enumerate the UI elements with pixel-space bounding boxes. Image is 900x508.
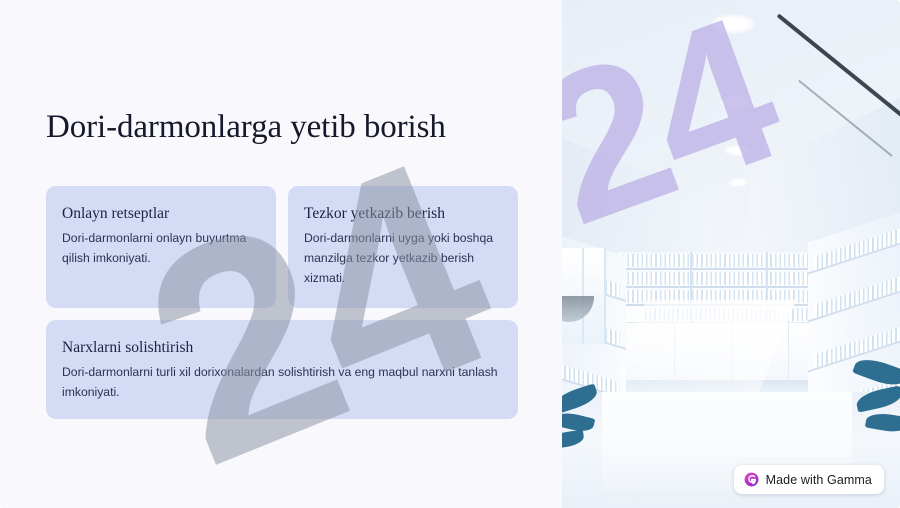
feature-cards: Onlayn retseptlar Dori-darmonlarni onlay…: [46, 186, 518, 419]
gamma-logo-icon: [744, 472, 759, 487]
leaf: [562, 383, 600, 414]
page-title: Dori-darmonlarga yetib borish: [46, 106, 516, 148]
pharmacy-interior-photo: 24: [562, 0, 900, 508]
card-price-comparison[interactable]: Narxlarni solishtirish Dori-darmonlarni …: [46, 320, 518, 419]
ceiling-light: [724, 145, 750, 156]
ceiling-light: [720, 95, 754, 109]
card-title: Onlayn retseptlar: [62, 204, 260, 223]
leaf: [855, 385, 900, 412]
made-with-gamma-badge[interactable]: Made with Gamma: [734, 465, 884, 494]
counter-seam: [788, 323, 789, 385]
slide-root: Dori-darmonlarga yetib borish Onlayn ret…: [0, 0, 900, 508]
card-title: Tezkor yetkazib berish: [304, 204, 502, 223]
leaf: [865, 410, 900, 434]
card-row-top: Onlayn retseptlar Dori-darmonlarni onlay…: [46, 186, 518, 308]
ceiling-light: [710, 14, 756, 34]
card-body: Dori-darmonlarni turli xil dorixonalarda…: [62, 363, 502, 403]
product-row: [814, 267, 900, 318]
card-online-prescriptions[interactable]: Onlayn retseptlar Dori-darmonlarni onlay…: [46, 186, 276, 308]
plant-right: [836, 356, 900, 452]
card-body: Dori-darmonlarni uyga yoki boshqa manzil…: [304, 229, 502, 288]
card-title: Narxlarni solishtirish: [62, 338, 502, 357]
plant-left: [562, 380, 612, 460]
card-body: Dori-darmonlarni onlayn buyurtma qilish …: [62, 229, 260, 269]
leaf: [852, 354, 900, 391]
content-panel: Dori-darmonlarga yetib borish Onlayn ret…: [0, 0, 562, 508]
made-with-gamma-label: Made with Gamma: [766, 473, 872, 487]
leaf: [562, 430, 585, 450]
card-fast-delivery[interactable]: Tezkor yetkazib berish Dori-darmonlarni …: [288, 186, 518, 308]
ceiling-light: [728, 178, 748, 187]
